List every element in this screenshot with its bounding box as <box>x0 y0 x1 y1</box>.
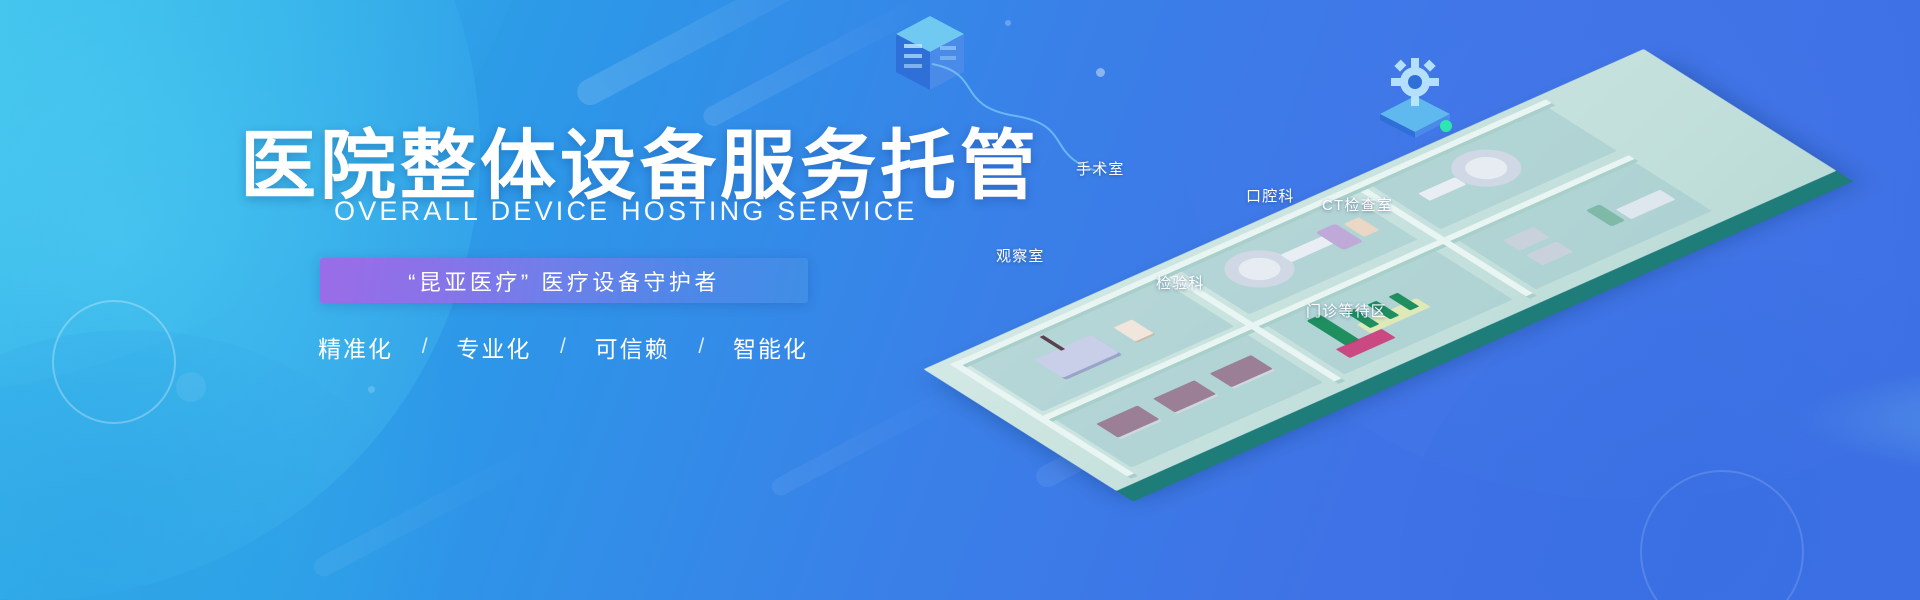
hero-copy: 医院整体设备服务托管 OVERALL DEVICE HOSTING SERVIC… <box>0 0 900 600</box>
tagline-item-4: 智能化 <box>733 330 808 364</box>
tagline-separator-3: / <box>698 335 704 359</box>
hero-banner: 医院整体设备服务托管 OVERALL DEVICE HOSTING SERVIC… <box>0 0 1920 600</box>
feature-tagline-row: 精准化 / 专业化 / 可信赖 / 智能化 <box>318 330 808 364</box>
room-label-ct: CT检查室 <box>1322 194 1393 215</box>
page-subtitle-english: OVERALL DEVICE HOSTING SERVICE <box>334 196 918 227</box>
slogan-badge: “昆亚医疗” 医疗设备守护者 <box>320 258 808 303</box>
tagline-item-3: 可信赖 <box>595 330 670 364</box>
floor-glow <box>1790 360 1920 480</box>
hospital-illustration: 手术室 口腔科 CT检查室 观察室 检验科 门诊等待区 <box>880 0 1920 600</box>
room-label-operating: 手术室 <box>1076 158 1125 179</box>
tagline-separator-2: / <box>560 335 566 359</box>
room-label-dental: 口腔科 <box>1246 185 1295 206</box>
tagline-item-1: 精准化 <box>318 330 393 364</box>
tagline-item-2: 专业化 <box>456 330 531 364</box>
room-label-laboratory: 检验科 <box>1156 272 1205 293</box>
gear-node-icon <box>1370 48 1460 138</box>
tagline-separator-1: / <box>422 335 428 359</box>
room-label-waiting: 门诊等待区 <box>1306 300 1387 321</box>
room-label-observation: 观察室 <box>996 245 1045 266</box>
slogan-badge-label: “昆亚医疗” 医疗设备守护者 <box>408 265 720 297</box>
